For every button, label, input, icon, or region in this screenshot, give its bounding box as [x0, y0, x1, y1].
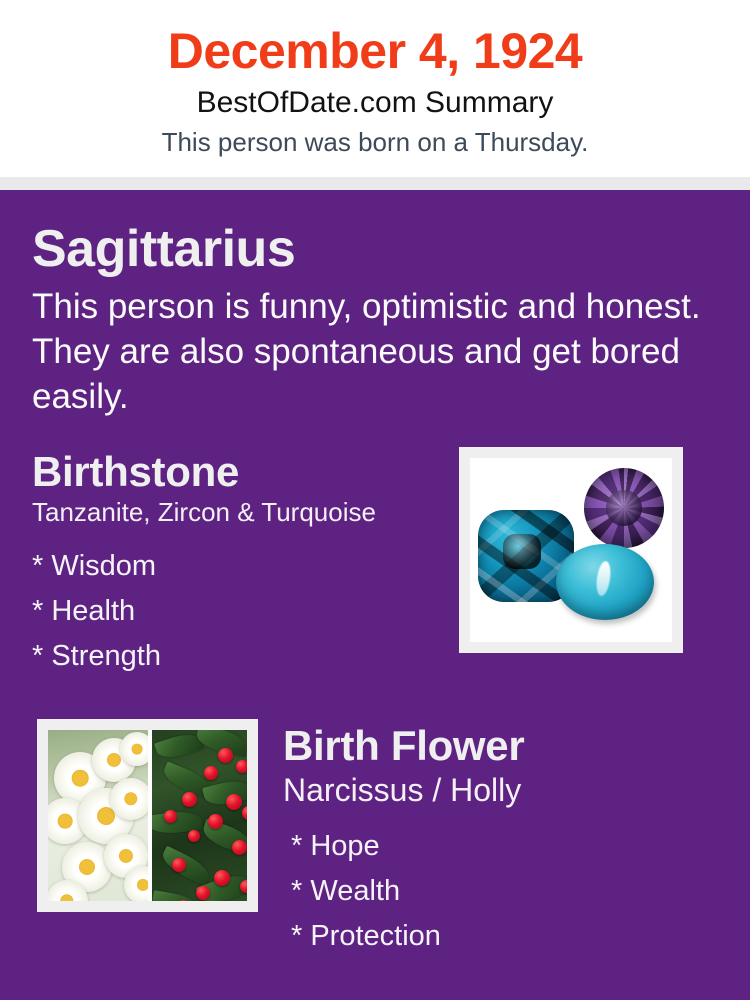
list-item: * Hope [291, 824, 740, 869]
birthflower-image [48, 730, 247, 901]
zodiac-sign-name: Sagittarius [32, 220, 720, 278]
page-title: December 4, 1924 [0, 22, 750, 80]
turquoise-gem-icon [556, 544, 654, 620]
birthstone-image-frame [459, 447, 683, 653]
birthflower-names: Narcissus / Holly [283, 770, 740, 810]
born-day-line: This person was born on a Thursday. [0, 125, 750, 159]
list-item: * Wealth [291, 869, 740, 914]
header-divider [0, 177, 750, 190]
birthstone-image [470, 458, 672, 642]
summary-panel: Sagittarius This person is funny, optimi… [0, 190, 750, 1000]
holly-photo-half [148, 730, 248, 901]
birthflower-section: Birth Flower Narcissus / Holly * Hope * … [0, 719, 750, 949]
birthflower-image-frame [37, 719, 258, 912]
list-item: * Protection [291, 914, 740, 959]
tanzanite-gem-icon [584, 468, 664, 548]
site-summary-subtitle: BestOfDate.com Summary [0, 84, 750, 122]
birthstone-section: Birthstone Tanzanite, Zircon & Turquoise… [0, 447, 750, 679]
zodiac-block: Sagittarius This person is funny, optimi… [0, 190, 750, 419]
page-root: December 4, 1924 BestOfDate.com Summary … [0, 0, 750, 1000]
page-header: December 4, 1924 BestOfDate.com Summary … [0, 0, 750, 177]
birthflower-text-block: Birth Flower Narcissus / Holly * Hope * … [283, 721, 740, 959]
zodiac-description: This person is funny, optimistic and hon… [32, 284, 720, 419]
narcissus-photo-half [48, 730, 148, 901]
birthflower-traits: * Hope * Wealth * Protection [283, 824, 740, 959]
birthflower-heading: Birth Flower [283, 721, 740, 771]
